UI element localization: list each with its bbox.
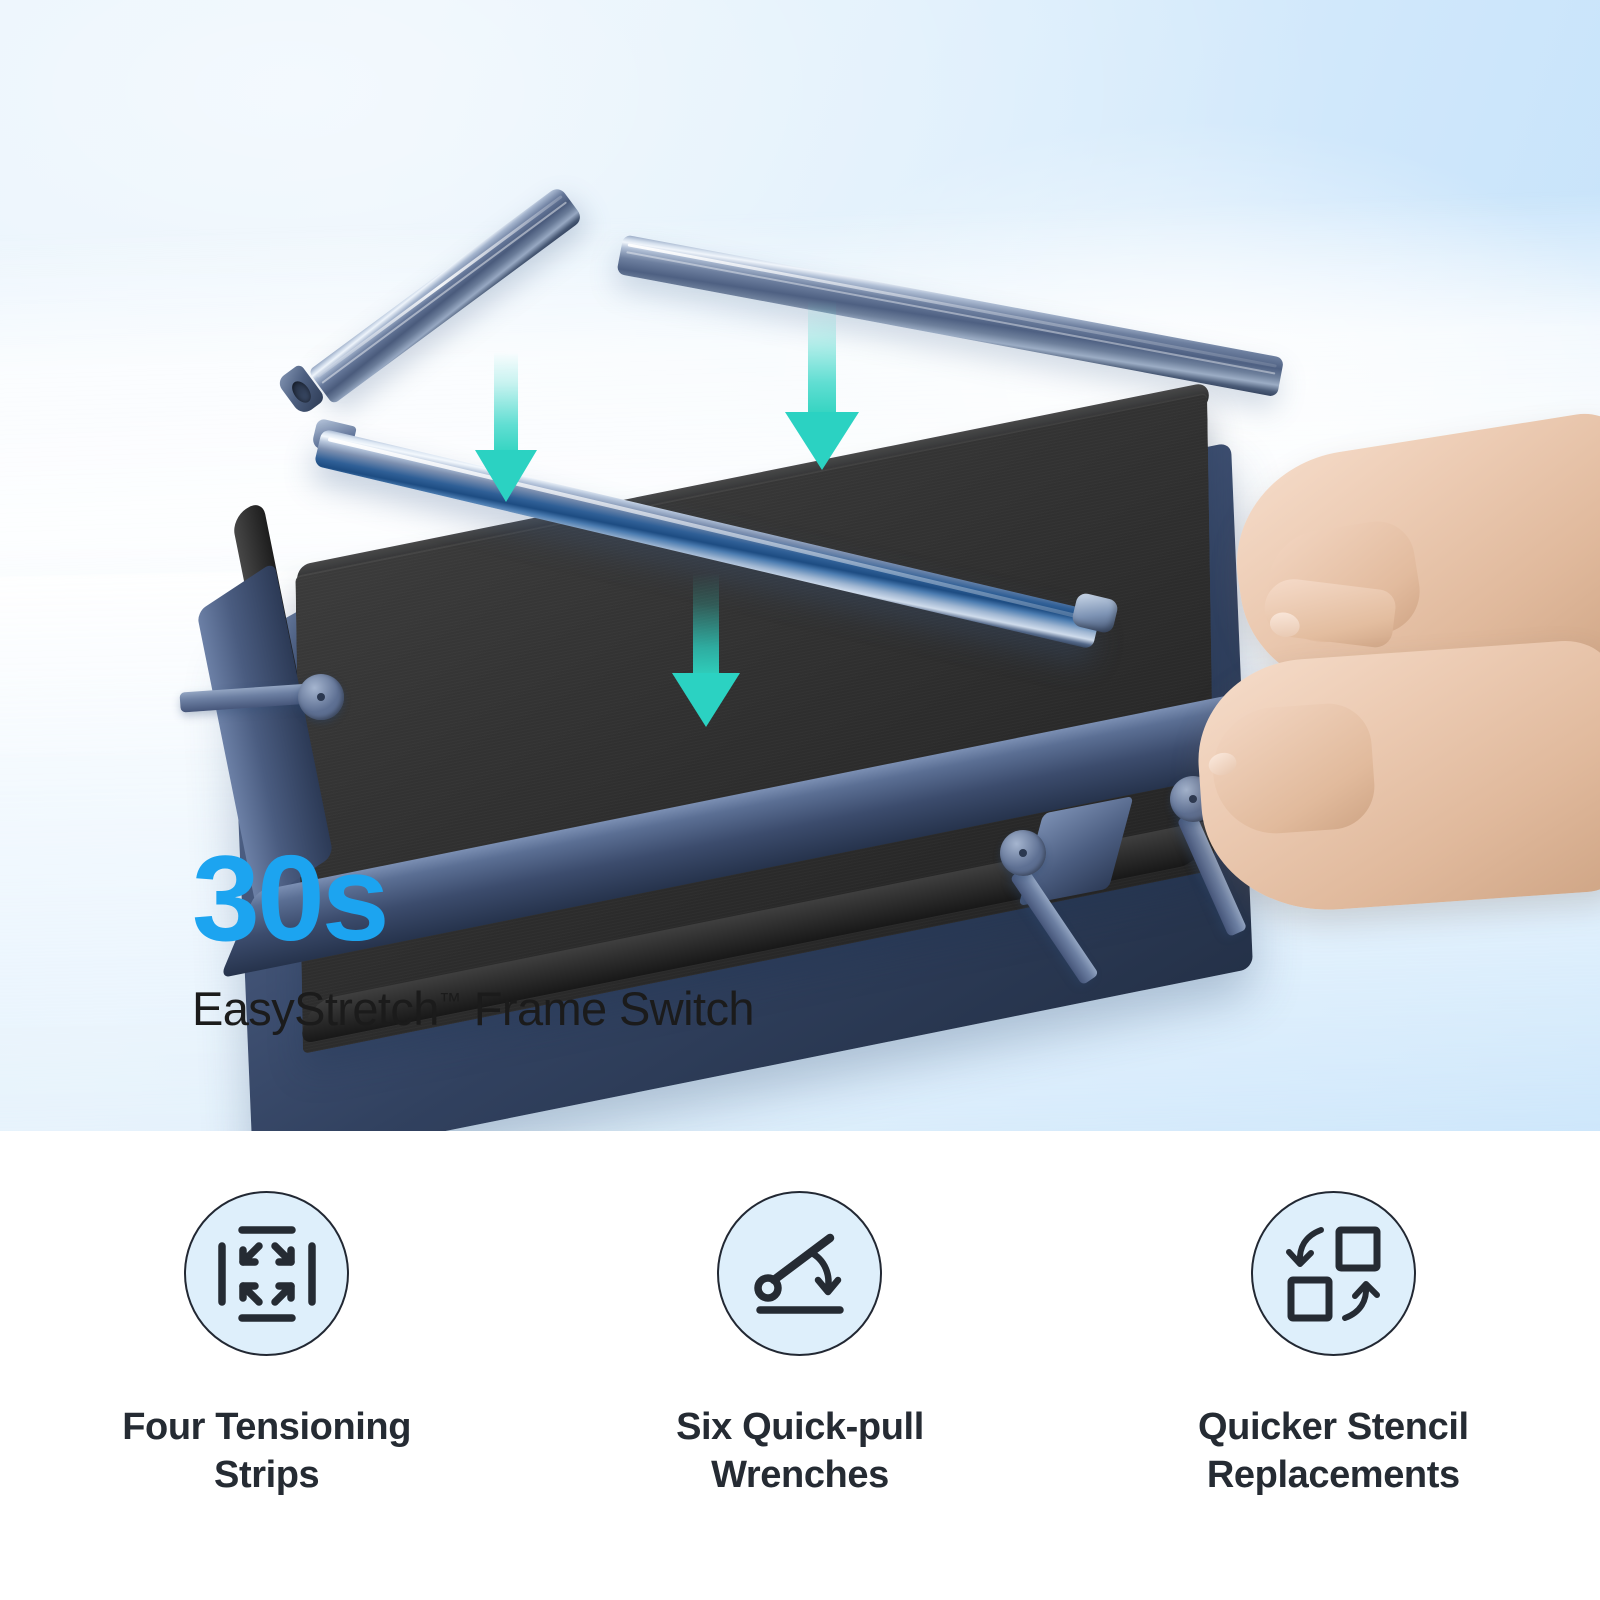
arrow-shaft	[494, 352, 518, 456]
drop-arrow-center-icon	[672, 573, 740, 733]
wrench-pivot	[298, 674, 344, 720]
feature-label: Quicker Stencil Replacements	[1198, 1404, 1469, 1500]
feature-label: Six Quick-pull Wrenches	[676, 1404, 924, 1500]
swap-squares-icon	[1251, 1191, 1416, 1356]
hero-copy: 30s EasyStretch™ Frame Switch	[192, 836, 1012, 1036]
feature-label: Four Tensioning Strips	[122, 1404, 411, 1500]
drop-arrow-left-icon	[475, 352, 537, 502]
feature-label-line1: Six Quick-pull	[676, 1406, 924, 1448]
arrow-shaft	[808, 300, 836, 418]
hero-subtitle: EasyStretch™ Frame Switch	[192, 982, 1012, 1036]
product-feature-page: 30s EasyStretch™ Frame Switch	[0, 0, 1600, 1600]
tensioning-strip-top-right	[620, 186, 1292, 354]
feature-label-line2: Wrenches	[711, 1454, 889, 1496]
feature-item-quick-pull-wrenches: Six Quick-pull Wrenches	[580, 1191, 1020, 1500]
hero-stat: 30s	[192, 836, 1012, 960]
feature-item-stencil-replacements: Quicker Stencil Replacements	[1113, 1191, 1553, 1500]
hero-section: 30s EasyStretch™ Frame Switch	[0, 0, 1600, 1131]
arrow-head	[475, 450, 537, 502]
arrow-shaft	[693, 573, 719, 679]
arrow-head	[785, 412, 859, 470]
hero-subtitle-rest: Frame Switch	[461, 982, 754, 1035]
drop-arrow-right-icon	[785, 300, 859, 478]
feature-label-line2: Strips	[214, 1454, 319, 1496]
feature-list: Four Tensioning Strips Six Quick-pull Wr…	[0, 1131, 1600, 1600]
feature-label-line1: Quicker Stencil	[1198, 1406, 1469, 1448]
expand-arrows-icon	[184, 1191, 349, 1356]
trademark-symbol: ™	[439, 989, 462, 1014]
strip-profile	[308, 185, 584, 404]
feature-label-line1: Four Tensioning	[122, 1406, 411, 1448]
feature-label-line2: Replacements	[1207, 1454, 1460, 1496]
arrow-head	[672, 673, 740, 727]
hand-lower	[1192, 638, 1600, 919]
hero-subtitle-brand: EasyStretch	[192, 982, 439, 1035]
feature-item-tensioning-strips: Four Tensioning Strips	[47, 1191, 487, 1500]
lever-wrench-icon	[717, 1191, 882, 1356]
tensioning-strip-upper-left	[296, 196, 596, 401]
